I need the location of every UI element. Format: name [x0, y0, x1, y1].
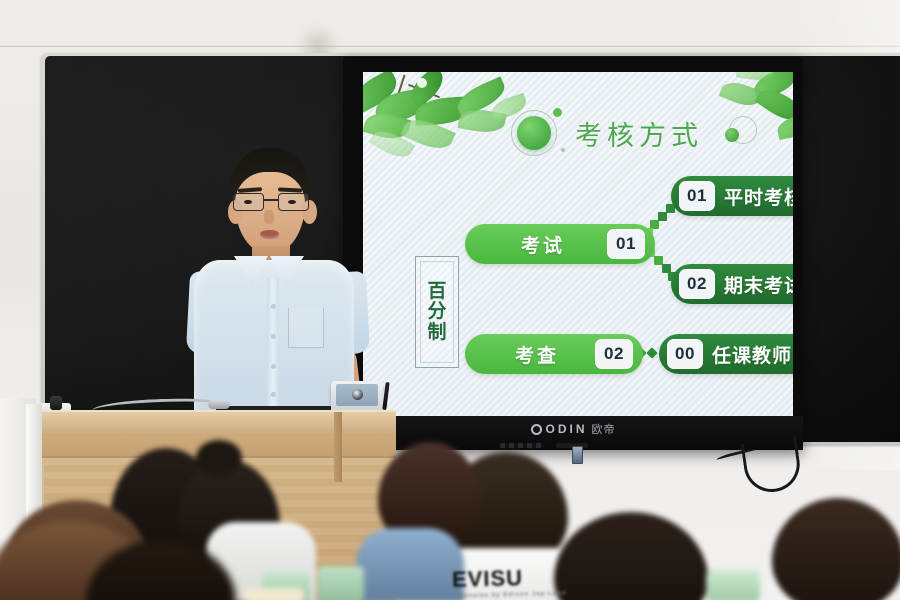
microphone-capsule: [208, 400, 230, 409]
display-screen[interactable]: 考核方式 百 分 制: [363, 72, 793, 416]
teacher-eye-right: [288, 200, 296, 204]
chair-back: [706, 570, 760, 600]
item-pill-final-score-label: 期末考试成绩: [724, 271, 793, 298]
teacher-shirt-pocket: [288, 308, 324, 348]
evisu-shirt-text: EVISU: [452, 565, 524, 593]
leaf-icon: [719, 77, 764, 111]
leaf-icon: [414, 96, 472, 126]
category-pill-exam-label: 考试: [521, 231, 565, 258]
item-pill-teacher-defined-number: 00: [667, 339, 703, 369]
leaf-icon: [457, 106, 506, 136]
item-pill-teacher-defined[interactable]: 00 任课教师自定: [659, 334, 793, 374]
leaf-icon: [453, 76, 509, 117]
item-pill-daily-score-label: 平时考核成绩: [724, 183, 793, 210]
blossom-icon: [417, 78, 427, 88]
leaf-icon: [363, 108, 411, 143]
odin-logo-icon: [531, 424, 542, 435]
display-brand: ODIN 欧帝: [343, 418, 803, 440]
podium-device-lens-icon: [352, 389, 363, 400]
item-pill-daily-score-number: 01: [679, 181, 715, 211]
teacher-mouth: [260, 230, 279, 239]
teacher-shirt-placket: [267, 278, 279, 410]
student-hair-bun: [196, 440, 242, 476]
lectern-top: [36, 410, 396, 436]
leaf-icon: [736, 72, 776, 83]
leaf-icon: [755, 83, 793, 127]
title-bubble-ring: [511, 110, 557, 156]
slide-title: 考核方式: [559, 112, 719, 154]
teacher-shirt-button: [271, 334, 276, 339]
percent-char-2: 分: [427, 302, 446, 322]
display-brand-en: ODIN: [546, 422, 588, 436]
category-pill-inspection[interactable]: 考查 02: [465, 334, 643, 374]
desk-edge: [244, 588, 304, 600]
leaf-icon: [400, 113, 455, 155]
chair-back: [318, 566, 364, 600]
teacher-shirt-button: [271, 304, 276, 309]
usb-stick[interactable]: [572, 446, 583, 464]
connector-step: [646, 347, 657, 358]
percent-char-1: 百: [427, 282, 446, 302]
microphone-base: [50, 396, 62, 410]
category-pill-exam-number: 01: [607, 229, 645, 259]
display-brand-cn: 欧帝: [592, 421, 616, 437]
teacher-nose: [264, 210, 274, 224]
leaf-icon: [751, 72, 793, 100]
leaf-icon: [373, 88, 429, 125]
leaf-icon: [405, 72, 449, 109]
item-pill-daily-score[interactable]: 01 平时考核成绩: [671, 176, 793, 216]
teacher-shirt-button: [271, 364, 276, 369]
wall-seam: [0, 44, 900, 47]
lectern-right-edge: [334, 412, 342, 482]
percent-char-3: 制: [427, 323, 446, 343]
leaf-icon: [775, 112, 793, 140]
presentation-slide: 考核方式 百 分 制: [363, 72, 793, 416]
percent-system-inner: 百 分 制: [420, 261, 454, 363]
category-pill-inspection-label: 考查: [515, 341, 559, 368]
teacher-shirt-button: [271, 392, 276, 397]
percent-system-badge: 百 分 制: [415, 256, 459, 368]
item-pill-teacher-defined-label: 任课教师自定: [712, 341, 793, 368]
leaf-icon: [363, 72, 402, 113]
category-pill-exam[interactable]: 考试 01: [465, 224, 655, 264]
connector-step: [658, 212, 667, 221]
classroom-scene: 考核方式 百 分 制: [0, 0, 900, 600]
student-body-denim: [356, 528, 464, 600]
category-pill-inspection-number: 02: [595, 339, 633, 369]
display-ir-sensor: [500, 443, 544, 448]
item-pill-final-score[interactable]: 02 期末考试成绩: [671, 264, 793, 304]
title-bubble-right: [725, 128, 739, 142]
item-pill-final-score-number: 02: [679, 269, 715, 299]
teacher-eye-left: [244, 200, 252, 204]
